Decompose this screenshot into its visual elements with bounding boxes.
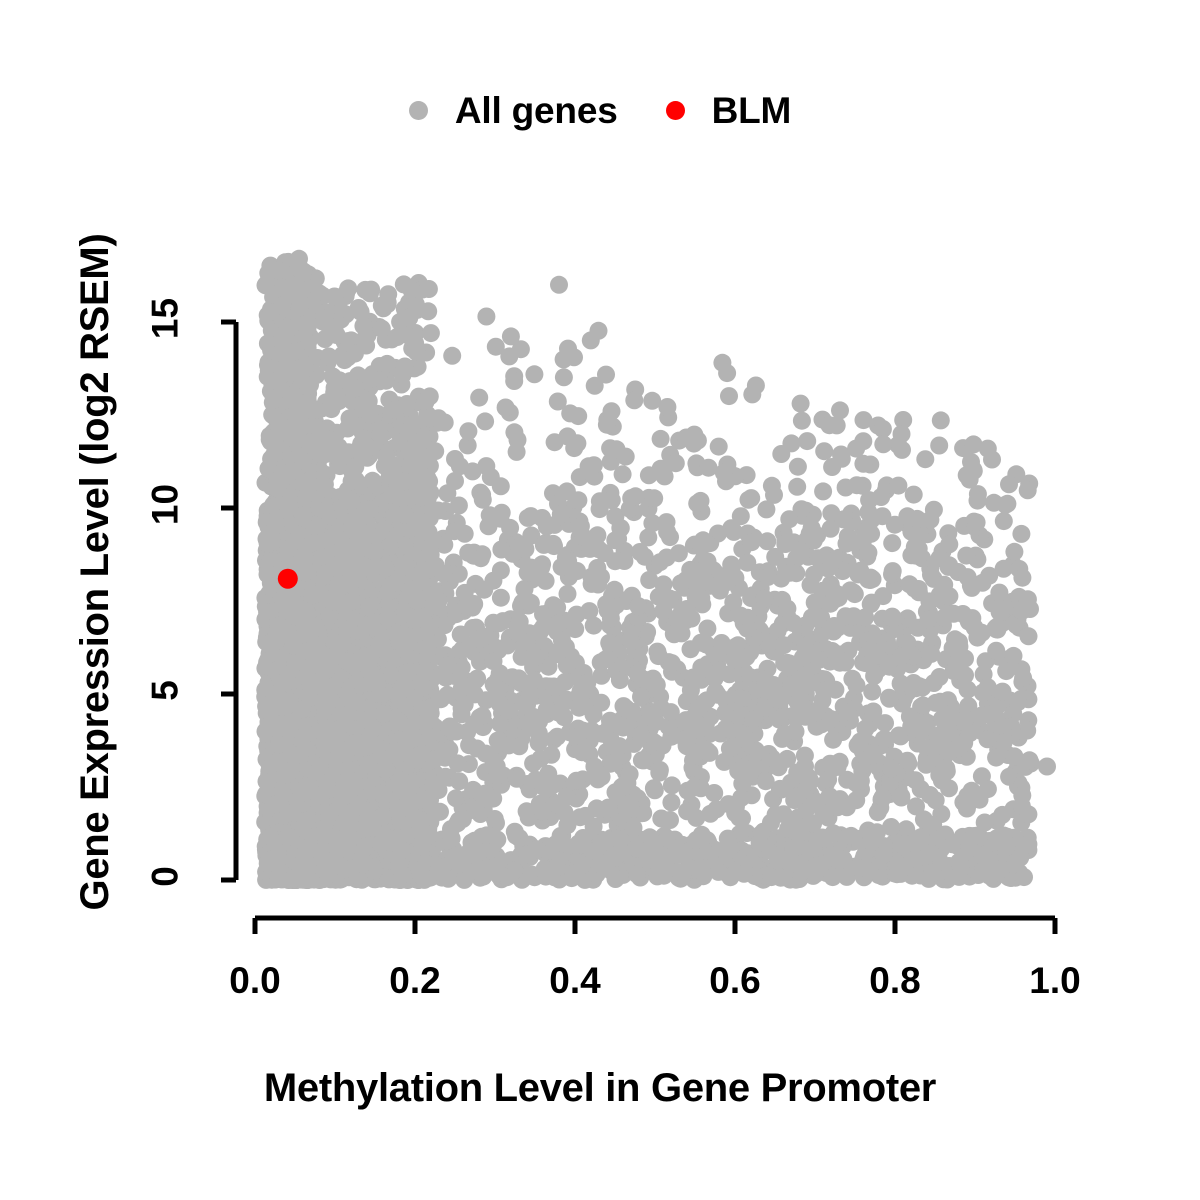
- y-tick-label: 0: [147, 837, 184, 917]
- x-tick-label: 0.8: [835, 962, 955, 999]
- scatter-canvas: [0, 0, 1200, 1200]
- x-tick-label: 0.4: [515, 962, 635, 999]
- x-tick-label: 1.0: [995, 962, 1115, 999]
- x-tick-label: 0.6: [675, 962, 795, 999]
- y-axis-label: Gene Expression Level (log2 RSEM): [75, 172, 115, 972]
- plot-area: [0, 0, 1200, 1200]
- data-points-layer: [256, 250, 1056, 889]
- x-tick-label: 0.0: [195, 962, 315, 999]
- y-tick-label: 15: [147, 279, 184, 359]
- x-tick-label: 0.2: [355, 962, 475, 999]
- x-axis-label: Methylation Level in Gene Promoter: [0, 1068, 1200, 1108]
- y-tick-label: 10: [147, 465, 184, 545]
- scatter-plot-figure: All genes BLM 0.00.20.40.60.81.0 051015 …: [0, 0, 1200, 1200]
- highlight-points-layer: [278, 569, 298, 589]
- y-tick-label: 5: [147, 651, 184, 731]
